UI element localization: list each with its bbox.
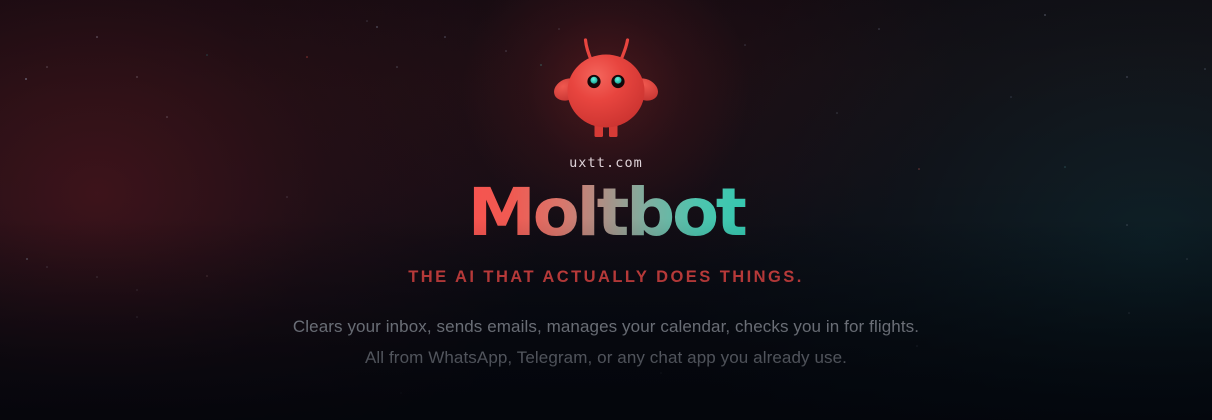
hero-section: uxtt.com Moltbot THE AI THAT ACTUALLY DO… xyxy=(0,0,1212,420)
moltbot-mascot-icon xyxy=(541,29,671,149)
tagline: THE AI THAT ACTUALLY DOES THINGS. xyxy=(408,268,804,287)
domain-label: uxtt.com xyxy=(569,155,643,171)
mascot-container xyxy=(491,26,721,151)
subcopy: Clears your inbox, sends emails, manages… xyxy=(293,312,919,374)
subcopy-line-2: All from WhatsApp, Telegram, or any chat… xyxy=(293,343,919,374)
brand-wordmark: Moltbot xyxy=(467,179,745,246)
star-dot xyxy=(400,392,402,394)
mascot-body xyxy=(568,54,645,127)
subcopy-line-1: Clears your inbox, sends emails, manages… xyxy=(293,312,919,343)
hero-content-stack: uxtt.com Moltbot THE AI THAT ACTUALLY DO… xyxy=(0,0,1212,374)
